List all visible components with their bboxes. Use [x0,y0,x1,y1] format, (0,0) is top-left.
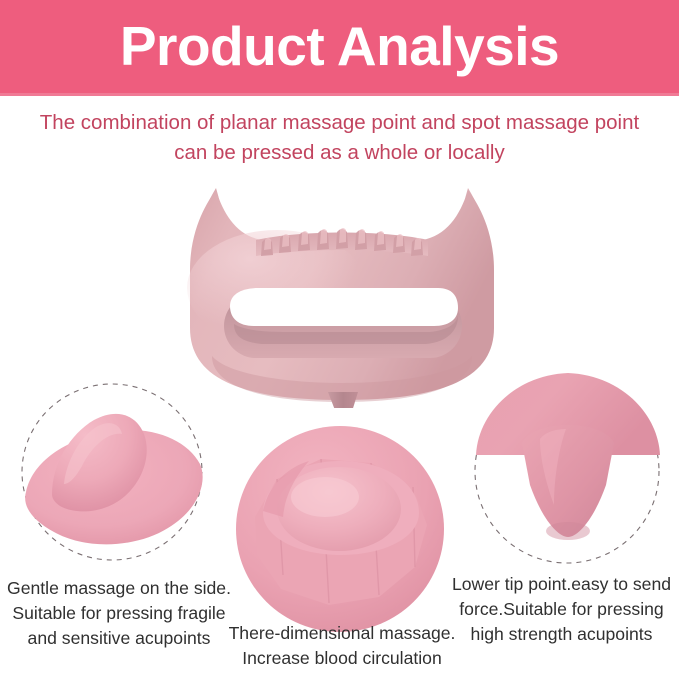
tip-bottom-shade [546,522,590,540]
product-analysis-infographic: Product Analysis The combination of plan… [0,0,679,673]
caption-three-dimensional-point: There-dimensional massage. Increase bloo… [222,621,462,671]
detail-lower-tip-point [466,373,672,573]
detail-three-dimensional-point [233,425,448,637]
detail-side-point [8,372,218,577]
cone-tip-shape [522,425,614,537]
center-dome-highlight [291,477,359,517]
header-banner: Product Analysis [0,0,679,93]
banner-underline-divider [0,93,679,96]
tip-massage-point-illustration [466,373,672,573]
page-title: Product Analysis [120,19,559,74]
caption-lower-tip-point: Lower tip point.easy to send force.Suita… [444,572,679,647]
stem-connector [328,392,358,408]
subtitle-text: The combination of planar massage point … [0,108,679,168]
side-massage-point-illustration [8,372,218,577]
dome-massage-point-illustration [233,425,448,637]
caption-side-point: Gentle massage on the side. Suitable for… [0,576,238,651]
grip-slot-opening [224,288,462,358]
